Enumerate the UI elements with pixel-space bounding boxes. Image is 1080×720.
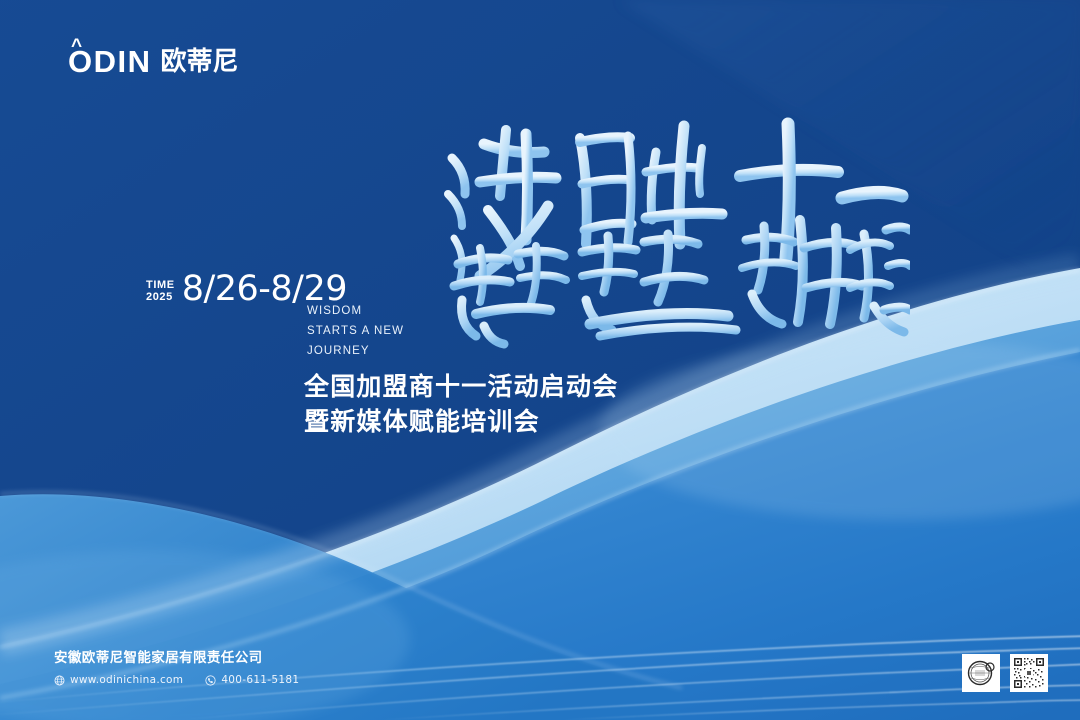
subtitle-line-2: 暨新媒体赋能培训会 bbox=[304, 405, 618, 440]
circumflex-accent-icon: ^ bbox=[71, 37, 84, 56]
website-url: www.odinichina.com bbox=[70, 674, 183, 686]
subtitle-line-1: 全国加盟商十一活动启动会 bbox=[304, 370, 618, 405]
wechat-qr-code[interactable] bbox=[1010, 654, 1048, 692]
event-poster: ^ ODIN 欧蒂尼 bbox=[0, 0, 1080, 720]
company-name: 安徽欧蒂尼智能家居有限责任公司 bbox=[54, 650, 299, 668]
english-tagline: WISDOM STARTS A NEW JOURNEY bbox=[307, 301, 404, 361]
event-date-label-year: 2025 bbox=[146, 291, 175, 303]
footer-contacts: www.odinichina.com 400-611-5181 bbox=[54, 674, 299, 686]
phone-contact[interactable]: 400-611-5181 bbox=[205, 674, 299, 686]
phone-number: 400-611-5181 bbox=[221, 674, 299, 686]
event-subtitle: 全国加盟商十一活动启动会 暨新媒体赋能培训会 bbox=[304, 370, 618, 439]
website-contact[interactable]: www.odinichina.com bbox=[54, 674, 183, 686]
brand-logo: ^ ODIN 欧蒂尼 bbox=[68, 46, 239, 77]
brand-logo-chinese: 欧蒂尼 bbox=[161, 49, 239, 75]
tagline-line-3: JOURNEY bbox=[307, 341, 404, 361]
tagline-line-1: WISDOM bbox=[307, 301, 404, 321]
footer: 安徽欧蒂尼智能家居有限责任公司 www.odinichina.com 400-6… bbox=[54, 650, 299, 686]
seal-stamp-icon bbox=[965, 657, 997, 689]
phone-icon bbox=[205, 675, 216, 686]
globe-icon bbox=[54, 675, 65, 686]
calligraphy-title-art: 决胜十一 智起新程 bbox=[440, 110, 910, 350]
brand-logo-mark: ^ ODIN bbox=[68, 46, 152, 77]
official-seal-stamp[interactable] bbox=[962, 654, 1000, 692]
background-wave-artwork bbox=[0, 0, 1080, 720]
tagline-line-2: STARTS A NEW bbox=[307, 321, 404, 341]
poster-title: 决胜十一 智起新程 bbox=[440, 110, 910, 350]
event-date-label-top: TIME bbox=[146, 279, 175, 291]
code-group bbox=[962, 654, 1048, 692]
qr-code-icon bbox=[1013, 657, 1045, 689]
event-date-label: TIME 2025 bbox=[146, 276, 175, 304]
